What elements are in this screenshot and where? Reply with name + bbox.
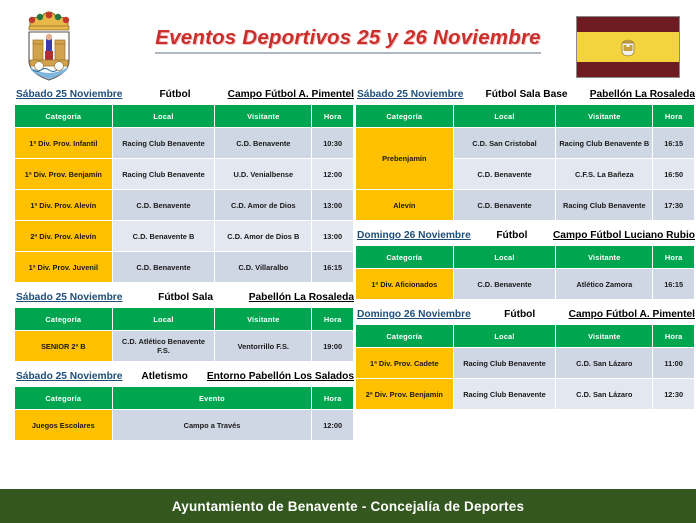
schedule-block-futbol-campo-futbol-luciano-rubio: Domingo 26 NoviembreFútbolCampo Fútbol L… bbox=[355, 227, 695, 300]
schedule-caption: Domingo 26 NoviembreFútbolCampo Fútbol A… bbox=[355, 306, 695, 324]
column-header-visitante: Visitante bbox=[556, 325, 653, 348]
schedule-table: CategoríaLocalVisitanteHora1ª Div. Afici… bbox=[355, 245, 695, 300]
column-header-local: Local bbox=[453, 246, 556, 269]
schedule-table: CategoríaLocalVisitanteHora1ª Div. Prov.… bbox=[14, 104, 354, 283]
cell-categoria: SENIOR 2ª B bbox=[15, 331, 113, 362]
caption-venue: Pabellón La Rosaleda bbox=[590, 89, 695, 100]
caption-sport: Fútbol bbox=[471, 309, 569, 320]
schedule-block-futbol-sala-pabellon-la-rosaleda: Sábado 25 NoviembreFútbol SalaPabellón L… bbox=[14, 289, 354, 362]
schedule-block-futbol-campo-futbol-a-pimentel: Sábado 25 NoviembreFútbolCampo Fútbol A.… bbox=[14, 86, 354, 283]
spain-arms-icon bbox=[619, 37, 637, 57]
cell-local: C.D. Benavente bbox=[453, 269, 556, 300]
cell-hora: 13:00 bbox=[312, 221, 354, 252]
caption-venue: Campo Fútbol Luciano Rubio bbox=[553, 230, 695, 241]
column-header-hora: Hora bbox=[653, 246, 695, 269]
column-header-categoria: Categoría bbox=[15, 387, 113, 410]
caption-date: Sábado 25 Noviembre bbox=[357, 89, 463, 100]
cell-categoria: 2ª Div. Prov. Alevín bbox=[15, 221, 113, 252]
table-header-row: CategoríaEventoHora bbox=[15, 387, 354, 410]
column-header-local: Local bbox=[112, 308, 215, 331]
schedule-table: CategoríaLocalVisitanteHoraPrebenjamínC.… bbox=[355, 104, 695, 221]
cell-local: Racing Club Benavente bbox=[112, 159, 215, 190]
flag-stripe-middle bbox=[577, 32, 679, 61]
column-header-categoria: Categoría bbox=[15, 105, 113, 128]
page-title: Eventos Deportivos 25 y 26 Noviembre bbox=[155, 26, 540, 54]
column-header-visitante: Visitante bbox=[215, 105, 312, 128]
table-row: PrebenjamínC.D. San CristobalRacing Club… bbox=[356, 128, 695, 159]
caption-sport: Fútbol bbox=[122, 89, 227, 100]
table-row: Juegos EscolaresCampo a Través12:00 bbox=[15, 410, 354, 441]
cell-hora: 16:15 bbox=[653, 269, 695, 300]
column-header-visitante: Visitante bbox=[215, 308, 312, 331]
column-header-categoria: Categoría bbox=[356, 325, 454, 348]
column-header-categoria: Categoría bbox=[15, 308, 113, 331]
caption-date: Sábado 25 Noviembre bbox=[16, 292, 122, 303]
cell-visitante: Ventorrillo F.S. bbox=[215, 331, 312, 362]
caption-venue: Pabellón La Rosaleda bbox=[249, 292, 354, 303]
cell-categoria: Juegos Escolares bbox=[15, 410, 113, 441]
cell-categoria: 1ª Div. Prov. Juvenil bbox=[15, 252, 113, 283]
cell-hora: 16:50 bbox=[653, 159, 695, 190]
cell-visitante: C.F.S. La Bañeza bbox=[556, 159, 653, 190]
cell-local: C.D. Atlético Benavente F.S. bbox=[112, 331, 215, 362]
table-header-row: CategoríaLocalVisitanteHora bbox=[15, 308, 354, 331]
left-column: Sábado 25 NoviembreFútbolCampo Fútbol A.… bbox=[14, 86, 354, 447]
table-header-row: CategoríaLocalVisitanteHora bbox=[356, 105, 695, 128]
table-row: 2ª Div. Prov. AlevínC.D. Benavente BC.D.… bbox=[15, 221, 354, 252]
caption-venue: Campo Fútbol A. Pimentel bbox=[569, 309, 695, 320]
column-header-visitante: Visitante bbox=[556, 246, 653, 269]
cell-visitante: Atlético Zamora bbox=[556, 269, 653, 300]
caption-sport: Fútbol Sala bbox=[122, 292, 248, 303]
cell-categoria: Alevín bbox=[356, 190, 454, 221]
table-row: SENIOR 2ª BC.D. Atlético Benavente F.S.V… bbox=[15, 331, 354, 362]
cell-categoria: 1ª Div. Prov. Benjamín bbox=[15, 159, 113, 190]
schedule-caption: Domingo 26 NoviembreFútbolCampo Fútbol L… bbox=[355, 227, 695, 245]
cell-hora: 12:00 bbox=[312, 159, 354, 190]
cell-local: C.D. Benavente bbox=[112, 252, 215, 283]
cell-hora: 17:30 bbox=[653, 190, 695, 221]
cell-categoria: 1ª Div. Prov. Infantil bbox=[15, 128, 113, 159]
cell-hora: 11:00 bbox=[653, 348, 695, 379]
cell-categoria: 1ª Div. Prov. Cadete bbox=[356, 348, 454, 379]
caption-sport: Fútbol bbox=[471, 230, 553, 241]
caption-sport: Fútbol Sala Base bbox=[463, 89, 589, 100]
column-header-hora: Hora bbox=[312, 308, 354, 331]
cell-local: Racing Club Benavente bbox=[112, 128, 215, 159]
column-header-categoria: Categoría bbox=[356, 105, 454, 128]
cell-local: C.D. Benavente bbox=[112, 190, 215, 221]
table-row: 1ª Div. Prov. AlevínC.D. BenaventeC.D. A… bbox=[15, 190, 354, 221]
table-row: AlevínC.D. BenaventeRacing Club Benavent… bbox=[356, 190, 695, 221]
poster-footer: Ayuntamiento de Benavente - Concejalía d… bbox=[0, 489, 696, 523]
column-header-local: Local bbox=[453, 105, 556, 128]
events-poster: Eventos Deportivos 25 y 26 Noviembre Sáb… bbox=[0, 0, 696, 523]
cell-local: Racing Club Benavente bbox=[453, 379, 556, 410]
cell-categoria: 1ª Div. Prov. Alevín bbox=[15, 190, 113, 221]
caption-venue: Campo Fútbol A. Pimentel bbox=[228, 89, 354, 100]
cell-hora: 16:15 bbox=[653, 128, 695, 159]
cell-visitante: C.D. Villaralbo bbox=[215, 252, 312, 283]
cell-categoria: Prebenjamín bbox=[356, 128, 454, 190]
column-header-local: Local bbox=[112, 105, 215, 128]
table-header-row: CategoríaLocalVisitanteHora bbox=[15, 105, 354, 128]
schedule-table: CategoríaLocalVisitanteHora1ª Div. Prov.… bbox=[355, 324, 695, 410]
cell-visitante: C.D. Amor de Dios bbox=[215, 190, 312, 221]
flag-stripe-top bbox=[577, 17, 679, 32]
poster-header: Eventos Deportivos 25 y 26 Noviembre bbox=[0, 0, 696, 86]
schedule-block-futbol-sala-base-pabellon-la-rosaleda: Sábado 25 NoviembreFútbol Sala BasePabel… bbox=[355, 86, 695, 221]
cell-hora: 16:15 bbox=[312, 252, 354, 283]
table-header-row: CategoríaLocalVisitanteHora bbox=[356, 325, 695, 348]
right-column: Sábado 25 NoviembreFútbol Sala BasePabel… bbox=[355, 86, 695, 416]
cell-local: Racing Club Benavente bbox=[453, 348, 556, 379]
column-header-hora: Hora bbox=[312, 105, 354, 128]
cell-visitante: Racing Club Benavente bbox=[556, 190, 653, 221]
schedule-caption: Sábado 25 NoviembreFútbol Sala BasePabel… bbox=[355, 86, 695, 104]
cell-visitante: C.D. Benavente bbox=[215, 128, 312, 159]
schedule-table: CategoríaLocalVisitanteHoraSENIOR 2ª BC.… bbox=[14, 307, 354, 362]
cell-hora: 10:30 bbox=[312, 128, 354, 159]
caption-sport: Atletismo bbox=[122, 371, 206, 382]
cell-hora: 12:30 bbox=[653, 379, 695, 410]
column-header-local: Local bbox=[453, 325, 556, 348]
table-row: 1ª Div. Prov. CadeteRacing Club Benavent… bbox=[356, 348, 695, 379]
column-header-hora: Hora bbox=[312, 387, 354, 410]
schedule-block-atletismo-entorno-pabellon-los-salados: Sábado 25 NoviembreAtletismoEntorno Pabe… bbox=[14, 368, 354, 441]
cell-categoria: 1ª Div. Aficionados bbox=[356, 269, 454, 300]
cell-hora: 19:00 bbox=[312, 331, 354, 362]
cell-local: C.D. San Cristobal bbox=[453, 128, 556, 159]
cell-visitante: Racing Club Benavente B bbox=[556, 128, 653, 159]
schedule-caption: Sábado 25 NoviembreAtletismoEntorno Pabe… bbox=[14, 368, 354, 386]
cell-visitante: U.D. Venialbense bbox=[215, 159, 312, 190]
table-row: 1ª Div. Prov. InfantilRacing Club Benave… bbox=[15, 128, 354, 159]
table-row: 1ª Div. Prov. BenjamínRacing Club Benave… bbox=[15, 159, 354, 190]
footer-text: Ayuntamiento de Benavente - Concejalía d… bbox=[172, 499, 524, 514]
table-header-row: CategoríaLocalVisitanteHora bbox=[356, 246, 695, 269]
cell-local: C.D. Benavente bbox=[453, 190, 556, 221]
cell-hora: 13:00 bbox=[312, 190, 354, 221]
cell-local: C.D. Benavente B bbox=[112, 221, 215, 252]
spain-flag-icon bbox=[576, 16, 680, 78]
schedule-caption: Sábado 25 NoviembreFútbolCampo Fútbol A.… bbox=[14, 86, 354, 104]
cell-visitante: C.D. Amor de Dios B bbox=[215, 221, 312, 252]
column-header-hora: Hora bbox=[653, 325, 695, 348]
column-header-visitante: Visitante bbox=[556, 105, 653, 128]
cell-evento: Campo a Través bbox=[112, 410, 312, 441]
cell-hora: 12:00 bbox=[312, 410, 354, 441]
cell-local: C.D. Benavente bbox=[453, 159, 556, 190]
column-header-hora: Hora bbox=[653, 105, 695, 128]
caption-date: Domingo 26 Noviembre bbox=[357, 230, 471, 241]
table-row: 1ª Div. Prov. JuvenilC.D. BenaventeC.D. … bbox=[15, 252, 354, 283]
column-header-evento: Evento bbox=[112, 387, 312, 410]
schedule-table: CategoríaEventoHoraJuegos EscolaresCampo… bbox=[14, 386, 354, 441]
schedule-caption: Sábado 25 NoviembreFútbol SalaPabellón L… bbox=[14, 289, 354, 307]
caption-date: Sábado 25 Noviembre bbox=[16, 371, 122, 382]
table-row: 1ª Div. AficionadosC.D. BenaventeAtlétic… bbox=[356, 269, 695, 300]
caption-date: Domingo 26 Noviembre bbox=[357, 309, 471, 320]
caption-venue: Entorno Pabellón Los Salados bbox=[207, 371, 354, 382]
cell-categoria: 2ª Div. Prov. Benjamín bbox=[356, 379, 454, 410]
caption-date: Sábado 25 Noviembre bbox=[16, 89, 122, 100]
table-row: 2ª Div. Prov. BenjamínRacing Club Benave… bbox=[356, 379, 695, 410]
column-header-categoria: Categoría bbox=[356, 246, 454, 269]
cell-visitante: C.D. San Lázaro bbox=[556, 348, 653, 379]
flag-stripe-bottom bbox=[577, 62, 679, 77]
schedule-block-futbol-campo-futbol-a-pimentel: Domingo 26 NoviembreFútbolCampo Fútbol A… bbox=[355, 306, 695, 410]
cell-visitante: C.D. San Lázaro bbox=[556, 379, 653, 410]
